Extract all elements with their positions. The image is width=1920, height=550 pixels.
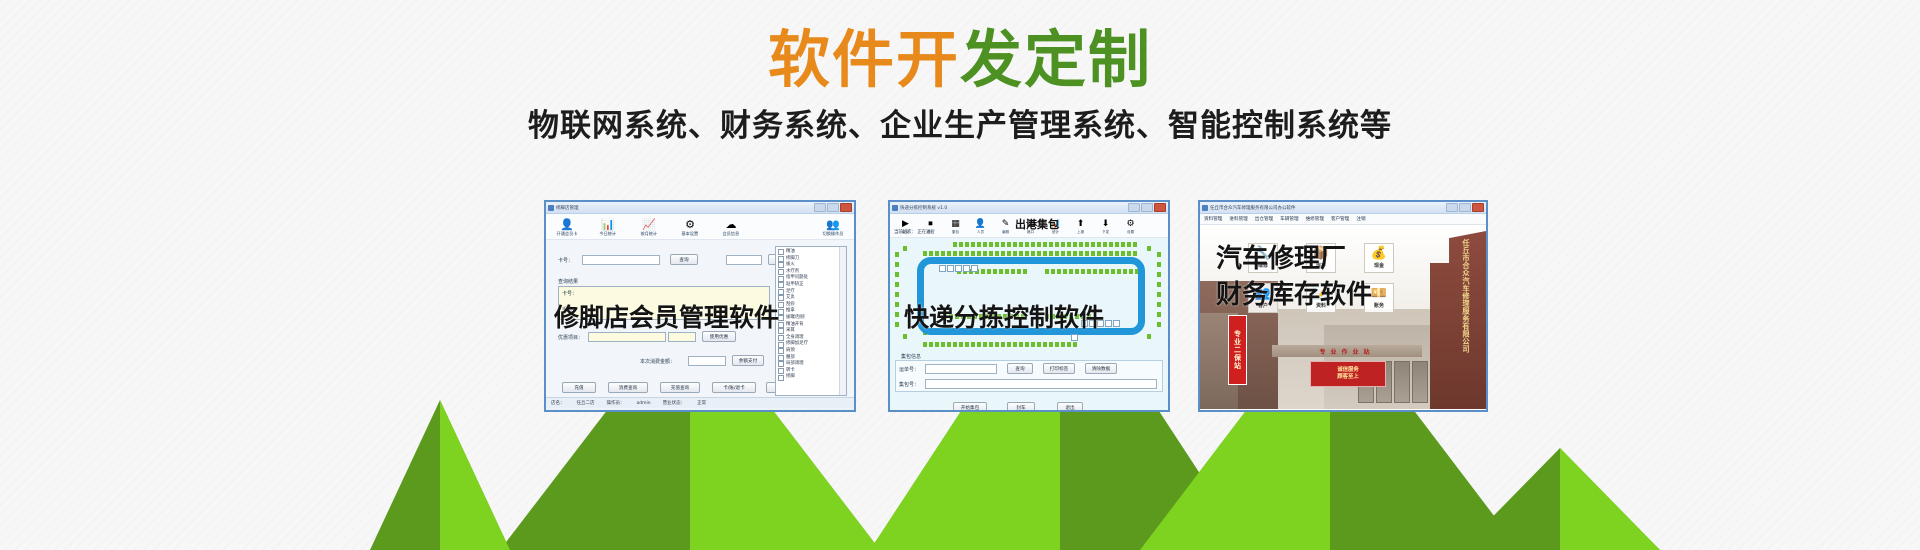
status-store-value: 任丘二店 — [577, 400, 595, 406]
card2-window-title: 出港集包 — [1015, 216, 1059, 232]
status-state-label: 营业状态： — [663, 400, 686, 406]
edit-icon: ✎ — [1002, 220, 1010, 229]
start-package-button[interactable]: 开始集包 — [953, 402, 987, 412]
menu-item-outbound[interactable]: 出仓管理 — [1255, 216, 1273, 222]
page-title-part-b: 发定制 — [960, 23, 1152, 96]
list-item-label: 拔罐/刮痧 — [786, 315, 805, 322]
toolbar-label: 人员 — [977, 230, 984, 235]
red-banner-line1: 诚信服务 — [1337, 367, 1359, 374]
archway-sign: 专业作业站 — [1272, 345, 1422, 357]
status-state-value: 正常 — [697, 400, 706, 406]
menu-item-customer[interactable]: 客户管理 — [1331, 216, 1349, 222]
toolbar-item-edit[interactable]: ✎ 编辑 — [996, 220, 1015, 235]
group-title: 集包信息 — [899, 353, 923, 360]
toolbar-label: 编辑 — [1002, 230, 1009, 235]
package-icon: ▦ — [951, 220, 960, 229]
checkbox[interactable] — [778, 282, 784, 288]
toolbar-item-switch-user[interactable]: 👥 切换操作员 — [818, 219, 848, 237]
page-subtitle: 物联网系统、财务系统、企业生产管理系统、智能控制系统等 — [0, 100, 1920, 145]
plaque-sign: 专业二保站 — [1228, 315, 1247, 385]
stop-icon: ⏹ — [928, 220, 933, 229]
list-item[interactable]: 采耳 — [778, 328, 844, 335]
bar-chart-icon: 📊 — [601, 219, 615, 230]
cash-amount-input[interactable] — [726, 255, 762, 265]
page-title: 软件开发定制 — [0, 24, 1920, 95]
app-icon — [548, 205, 554, 211]
list-item-label: 精油 — [786, 249, 795, 256]
toolbar-item-person[interactable]: 👤 人员 — [971, 220, 990, 235]
toolbar-item-settings[interactable]: ⚙ 设置 — [1121, 220, 1140, 235]
window-controls[interactable] — [814, 203, 852, 212]
settings-icon: ⚙ — [685, 219, 695, 230]
toolbar-label: 上报 — [1077, 230, 1084, 235]
list-item-label: 修脚加足疗 — [786, 341, 808, 348]
clear-data-button[interactable]: 清除数据 — [1085, 363, 1117, 374]
checkbox[interactable] — [778, 348, 784, 354]
total-input[interactable] — [688, 356, 726, 366]
status-store-label: 店名： — [551, 400, 565, 406]
list-item[interactable]: 肩颈 — [778, 348, 844, 355]
list-item[interactable]: 修脚加足疗 — [778, 341, 844, 348]
close-icon[interactable] — [1472, 203, 1484, 212]
list-item[interactable]: 指甲问题处 — [778, 275, 844, 282]
checkbox[interactable] — [778, 256, 784, 262]
consume-query-button[interactable]: 消费查询 — [608, 382, 648, 393]
list-item-label: 趾甲矫正 — [786, 282, 804, 289]
card3-title-text: 任丘市合众汽车修理服务有限公司办公软件 — [1210, 205, 1446, 211]
list-item-label: 艾灸 — [786, 295, 795, 302]
package-no-input[interactable] — [925, 379, 1157, 389]
shop-door — [1412, 361, 1428, 403]
switch-user-icon: 👥 — [826, 219, 840, 230]
close-icon[interactable] — [1154, 203, 1166, 212]
list-item-label: 拔火 — [786, 262, 795, 269]
icon-tile-label: 现金 — [1374, 262, 1384, 269]
card1-title-text: 修脚店管理 — [556, 205, 814, 211]
app-icon — [892, 205, 898, 211]
upload-icon: ⬆ — [1077, 220, 1085, 229]
start-icon: ▶ — [902, 220, 909, 229]
list-item[interactable]: 修脚 — [778, 374, 844, 381]
list-item-label: 修脚 — [786, 374, 795, 381]
toolbar-label: 开通会员卡 — [557, 231, 578, 237]
toolbar-label: 按月统计 — [641, 231, 658, 237]
app-icon — [1202, 205, 1208, 211]
card3-caption-line2: 财务库存软件 — [1216, 274, 1372, 311]
maximize-icon[interactable] — [1459, 203, 1471, 212]
recharge-button[interactable]: 充值 — [562, 382, 596, 393]
waybill-label: 运单号： — [899, 366, 919, 373]
checkbox[interactable] — [778, 269, 784, 275]
menu-item-material[interactable]: 资料管理 — [1204, 216, 1222, 222]
window-controls[interactable] — [1446, 203, 1484, 212]
promo-banner: 软件开发定制 物联网系统、财务系统、企业生产管理系统、智能控制系统等 修脚店管理… — [0, 0, 1920, 550]
card3-menubar[interactable]: 资料管理 进料管理 出仓管理 车辆管理 维修管理 客户管理 注销 — [1200, 214, 1486, 225]
checkbox[interactable] — [778, 375, 784, 381]
card-no-label: 卡号： — [558, 257, 573, 264]
status-operator-value: admin — [637, 401, 651, 406]
screenshot-gallery: 修脚店管理 👤 开通会员卡 📊 今日统计 📈 按月统 — [0, 198, 1920, 418]
person-icon: 👤 — [975, 220, 986, 229]
toolbar-label: 下发 — [1102, 230, 1109, 235]
close-icon[interactable] — [840, 203, 852, 212]
download-icon: ⬇ — [1102, 220, 1110, 229]
toolbar-label: 基本设置 — [682, 231, 699, 237]
red-banner-line2: 顾客至上 — [1337, 374, 1359, 381]
toolbar-item-month-stats[interactable]: 📈 按月统计 — [634, 219, 664, 237]
cash-icon: 💰 — [1371, 247, 1387, 261]
checkbox[interactable] — [778, 355, 784, 361]
recharge-query-button[interactable]: 充值查询 — [660, 382, 700, 393]
list-item-label: 采耳 — [786, 328, 795, 335]
card1-titlebar: 修脚店管理 — [546, 202, 854, 214]
menu-item-inbound[interactable]: 进料管理 — [1229, 216, 1247, 222]
shop-door — [1394, 361, 1410, 403]
account-icon: 💴 — [1371, 287, 1387, 301]
page-title-part-a: 软件开 — [768, 23, 960, 96]
info-cloud-icon: ☁ — [726, 219, 737, 230]
card1-toolbar[interactable]: 👤 开通会员卡 📊 今日统计 📈 按月统计 ⚙ 基本设置 ☁ 会员信息 — [546, 214, 854, 240]
checkbox[interactable] — [778, 289, 784, 295]
total-label: 本次消费金额： — [640, 358, 675, 365]
card3-titlebar: 任丘市合众汽车修理服务有限公司办公软件 — [1200, 202, 1486, 214]
list-item-label: 推拿 — [786, 308, 795, 315]
checkbox[interactable] — [778, 335, 784, 341]
card-account-button[interactable]: 卡/账/退卡 — [712, 382, 756, 393]
menu-item-repair[interactable]: 维修管理 — [1306, 216, 1324, 222]
list-item[interactable]: 局部调理 — [778, 361, 844, 368]
waybill-input[interactable] — [925, 364, 997, 374]
toolbar-label: 集包 — [952, 230, 959, 235]
card-no-input[interactable] — [582, 255, 660, 265]
toolbar-item-member-card[interactable]: 👤 开通会员卡 — [552, 219, 582, 237]
checkbox[interactable] — [778, 342, 784, 348]
menu-item-vehicle[interactable]: 车辆管理 — [1280, 216, 1298, 222]
status-operator-label: 操作员： — [607, 400, 625, 406]
checkbox[interactable] — [778, 249, 784, 255]
name-label: 卡号： — [562, 290, 577, 297]
exit-button[interactable]: 退出 — [1057, 402, 1083, 412]
card2-title-text: 快递分拣控制系统 v1.0 — [900, 205, 1128, 211]
toolbar-item-download[interactable]: ⬇ 下发 — [1096, 220, 1115, 235]
result-group-label: 查询结果 — [558, 278, 578, 285]
checkbox[interactable] — [778, 368, 784, 374]
query-button[interactable]: 查询 — [1007, 363, 1033, 374]
list-item[interactable]: 推拿 — [778, 308, 844, 315]
card2-subnote: 当前班次： 正在运行 — [894, 229, 935, 235]
list-item[interactable]: 精油 — [778, 249, 844, 256]
settings-icon: ⚙ — [1126, 220, 1134, 229]
card2-statusbar: 分拣机状态：运行中 | 已分拣：0 | 格口：0 / 0 | 时间： — [890, 410, 1168, 412]
red-banner: 诚信服务 顾客至上 — [1310, 361, 1386, 387]
card2-caption: 快递分拣控制软件 — [904, 298, 1104, 334]
card2-titlebar: 快递分拣控制系统 v1.0 — [890, 202, 1168, 214]
list-item[interactable]: 趾甲矫正 — [778, 282, 844, 289]
print-label-button[interactable]: 打印标签 — [1043, 363, 1075, 374]
query-button[interactable]: 查询 — [670, 254, 698, 265]
card1-statusbar: 店名： 任丘二店 操作员： admin 营业状态： 正常 — [546, 397, 854, 408]
mountain-light-5 — [1560, 448, 1660, 550]
minimize-icon[interactable] — [1128, 203, 1140, 212]
promo-label: 优惠项目： — [558, 334, 583, 341]
toolbar-item-settings[interactable]: ⚙ 基本设置 — [675, 219, 705, 237]
mountain-light-1 — [440, 400, 510, 550]
card3-caption-line1: 汽车修理厂 — [1216, 238, 1346, 275]
list-item[interactable]: 艾灸 — [778, 295, 844, 302]
card1-caption: 修脚店会员管理软件 — [554, 298, 779, 334]
list-item[interactable]: 拔火 — [778, 262, 844, 269]
maximize-icon[interactable] — [827, 203, 839, 212]
toolbar-item-upload[interactable]: ⬆ 上报 — [1071, 220, 1090, 235]
toolbar-label: 切换操作员 — [823, 231, 844, 237]
checkbox[interactable] — [778, 361, 784, 367]
toolbar-label: 设置 — [1127, 230, 1134, 235]
icon-tile-label: 账务 — [1374, 302, 1384, 309]
company-vertical-text: 任丘市合众汽车修理服务有限公司 — [1455, 239, 1470, 353]
toolbar-label: 会员信息 — [723, 231, 740, 237]
toolbar-item-member-info[interactable]: ☁ 会员信息 — [716, 219, 746, 237]
seal-truck-button[interactable]: 封车 — [1007, 402, 1035, 412]
listbox-scrollbar[interactable] — [839, 247, 846, 395]
card2-form: 集包信息 运单号： 查询 打印标签 清除数据 集包号： 开始集包 封车 退出 — [895, 360, 1163, 412]
service-items-listbox[interactable]: 精油 修脚刀 拔火 水疗剂 指甲问题处 趾甲矫正 足疗 艾灸 刮痧 推拿 拔罐/… — [775, 246, 847, 396]
toolbar-item-today-stats[interactable]: 📊 今日统计 — [593, 219, 623, 237]
maximize-icon[interactable] — [1141, 203, 1153, 212]
window-controls[interactable] — [1128, 203, 1166, 212]
minimize-icon[interactable] — [1446, 203, 1458, 212]
minimize-icon[interactable] — [814, 203, 826, 212]
balance-pay-button[interactable]: 余额支付 — [732, 355, 764, 366]
list-item-label: 肩颈 — [786, 348, 795, 355]
list-item-label: 局部调理 — [786, 361, 804, 368]
checkbox[interactable] — [778, 276, 784, 282]
toolbar-item-package[interactable]: ▦ 集包 — [946, 220, 965, 235]
menu-item-logout[interactable]: 注销 — [1356, 216, 1365, 222]
list-item[interactable]: 拔罐/刮痧 — [778, 315, 844, 322]
list-item-label: 指甲问题处 — [786, 275, 808, 282]
package-no-label: 集包号： — [899, 381, 919, 388]
line-chart-icon: 📈 — [642, 219, 656, 230]
toolbar-label: 今日统计 — [600, 231, 617, 237]
icon-tile-cash[interactable]: 💰 现金 — [1364, 243, 1394, 273]
member-card-icon: 👤 — [560, 219, 574, 230]
checkbox[interactable] — [778, 262, 784, 268]
